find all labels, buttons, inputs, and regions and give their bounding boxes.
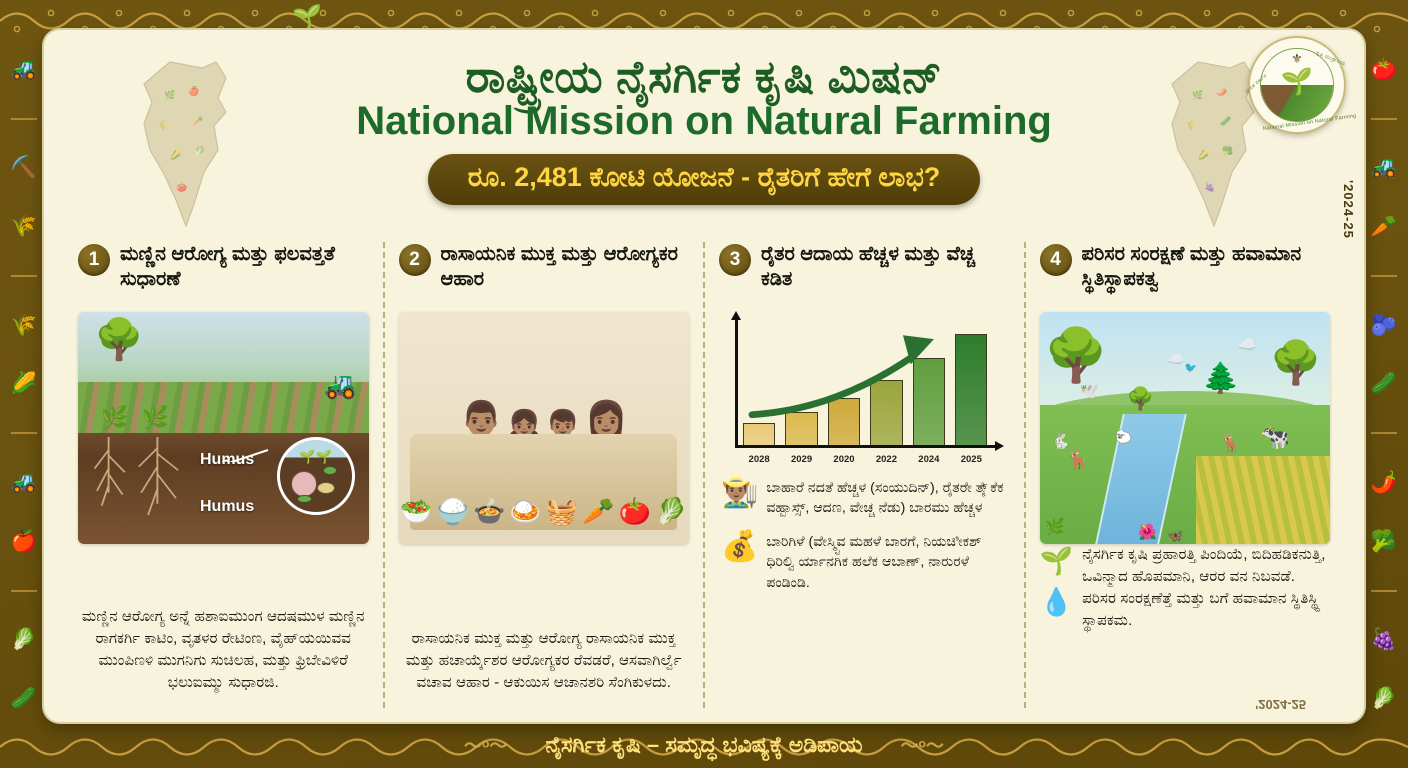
microbe-cell: [297, 495, 312, 503]
cloud-icon: ☁️: [1237, 338, 1257, 354]
column-environment-climate: 4 ಪರಿಸರ ಸಂರಕ್ಷಣೆ ಮತ್ತು ಹವಾಮಾನ ಸ್ಥಿತಿಸ್ಥಾ…: [1024, 242, 1345, 708]
divider: [1371, 118, 1397, 120]
right-border-icon-strip: 🍅 🚜 🥕 🫐 🥒 🌶️ 🥦 🍇 🥬: [1360, 34, 1408, 734]
tree-icon: 🌳: [1127, 388, 1154, 410]
rice-icon: 🌾: [11, 315, 37, 336]
family-meal-illustration: 👨🏽 👧🏽 👦🏽 👩🏽 🥗 🍚 🍲 🍛 🧺 🥕 🍅: [399, 312, 690, 544]
tree-icon: 🌳: [1044, 330, 1109, 382]
year-tab: '2024-25: [1341, 180, 1356, 239]
column-4-body: ನೈಸರ್ಗಿಕ ಕೃಷಿ ಪ್ರಹಾರತ್ತಿ ಪಿಂದಿಯೆ, ಬಿದಿಹಡ…: [1082, 544, 1330, 646]
content-columns: 1 ಮಣ್ಣಿನ ಆರೋಗ್ಯ ಮತ್ತು ಫಲವತ್ತತೆ ಸುಧಾರಣೆ 🌳…: [64, 242, 1344, 708]
money-bags-icon: 💰: [721, 532, 758, 562]
bar-group: 2029: [785, 322, 817, 445]
microbe-cell: [291, 471, 317, 497]
daughter-figure: 👧🏽: [508, 410, 540, 436]
chart-y-axis: [735, 318, 738, 448]
chart-note-1: 👨🏽‍🌾 ಬಾಹಾರೆ ನದತೆ ಹೆಚ್ಚಳ (ಸಂಯುದಿನ್), ರೈತರ…: [719, 478, 1010, 518]
nmnf-seal-logo: ⚜ 🌱 ಭಾರತ ಸರ್ಕಾರ ಕೃಷಿ ಮಂತ್ರಾಲಯ National M…: [1248, 36, 1346, 134]
column-4-heading: ಪರಿಸರ ಸಂರಕ್ಷಣೆ ಮತ್ತು ಹವಾಮಾನ ಸ್ಥಿತಿಸ್ಥಾಪಕ…: [1082, 242, 1331, 292]
divider: [11, 432, 37, 434]
divider: [1371, 432, 1397, 434]
bar-label: 2020: [833, 454, 854, 465]
tree-icon: 🌲: [1202, 364, 1239, 394]
tractor-icon: 🚜: [11, 472, 37, 493]
bird-icon: 🕊️: [1080, 384, 1099, 399]
bar: [955, 334, 987, 445]
divider: [11, 590, 37, 592]
column-1-heading: ಮಣ್ಣಿನ ಆರೋಗ್ಯ ಮತ್ತು ಫಲವತ್ತತೆ ಸುಧಾರಣೆ: [120, 242, 369, 292]
tractor-icon: 🚜: [11, 59, 37, 80]
chart-note-2: 💰 ಬಾರಿಗಿಳೆ (ವೇಸ್ಮ್ಟಿವ ಮಹಳೆ ಬಾರಗೆ, ನಿಯಚಿೀ…: [719, 532, 1010, 592]
corn-icon: 🌽: [11, 373, 37, 394]
divider: [1371, 590, 1397, 592]
decorative-frame: 🌱 🚜 ⛏️ 🌾 🌾 🌽 🚜 🍎 🥬 🥒 🍅 🚜 🥕 🫐 🥒 🌶️ 🥦: [0, 0, 1408, 768]
broccoli-icon: 🥦: [1371, 531, 1397, 552]
microbe-cell: [323, 466, 337, 475]
chili-icon: 🌶️: [1371, 472, 1397, 493]
bar-group: 2020: [828, 322, 860, 445]
leafy-greens-icon: 🥬: [655, 498, 687, 524]
flower-icon: 🌺: [1138, 525, 1157, 540]
rice-bowl-icon: 🍚: [437, 498, 469, 524]
grass-icon: 🌿: [1045, 520, 1065, 536]
paddy-field: [1196, 456, 1330, 544]
divider: [1371, 275, 1397, 277]
bar-label: 2028: [749, 454, 770, 465]
column-soil-health: 1 ಮಣ್ಣಿನ ಆರೋಗ್ಯ ಮತ್ತು ಫಲವತ್ತತೆ ಸುಧಾರಣೆ 🌳…: [64, 242, 383, 708]
year-corner-mark: '2024-25: [1255, 697, 1306, 712]
number-badge-4: 4: [1040, 244, 1072, 276]
column-2-header: 2 ರಾಸಾಯನಿಕ ಮುಕ್ತ ಮತ್ತು ಆರೋಗ್ಯಕರ ಆಹಾರ: [399, 242, 690, 304]
number-badge-1: 1: [78, 244, 110, 276]
mother-figure: 👩🏽: [585, 402, 627, 436]
rabbit-icon: 🐇: [1051, 434, 1070, 449]
grass-icon: 🌱🌱: [280, 449, 352, 465]
column-4-header: 4 ಪರಿಸರ ಸಂರಕ್ಷಣೆ ಮತ್ತು ಹವಾಮಾನ ಸ್ಥಿತಿಸ್ಥಾ…: [1040, 242, 1331, 304]
fruit-basket-icon: 🧺: [546, 498, 578, 524]
infographic-panel: 🌿🍎 🌾🥕 🌽🥬 🍅 🌿🌶️ 🌾🥒 🌽🥦 🍇: [44, 30, 1364, 722]
butterfly-icon: 🦋: [1167, 529, 1183, 542]
deer-icon: 🦌: [1066, 450, 1091, 470]
wheat-icon: 🌾: [11, 216, 37, 237]
left-border-icon-strip: 🚜 ⛏️ 🌾 🌾 🌽 🚜 🍎 🥬 🥒: [0, 34, 48, 734]
bar-group: 2025: [955, 322, 987, 445]
soil-cross-section-illustration: 🌳 🚜 🌿 🌿 Humus Humus: [78, 312, 369, 544]
family-group: 👨🏽 👧🏽 👦🏽 👩🏽: [399, 326, 690, 436]
chart-bars: 202820292020202220242025: [743, 322, 988, 445]
grapes-icon: 🍇: [1371, 629, 1397, 650]
bar: [743, 423, 775, 445]
column-chemical-free-food: 2 ರಾಸಾಯನಿಕ ಮುಕ್ತ ಮತ್ತು ಆರೋಗ್ಯಕರ ಆಹಾರ 👨🏽 …: [383, 242, 704, 708]
nature-landscape-illustration: 🌳 🌳 🌲 🌳 ☁️ ☁️ 🐦 🕊️ 🦌 🐇 🦌 🐄 🐑 🌺 🦋 🌿: [1040, 312, 1331, 544]
bar-group: 2022: [870, 322, 902, 445]
column-2-body: ರಾಸಾಯನಿಕ ಮುಕ್ತ ಮತ್ತು ಆರೋಗ್ಯ ರಾಸಾಯನಿಕ ಮುಕ…: [399, 628, 690, 708]
column-3-heading: ರೈತರ ಆದಾಯ ಹೆಚ್ಚಳ ಮತ್ತು ವೆಚ್ಚ ಕಡಿತ: [761, 242, 1010, 292]
tractor-icon: 🚜: [1371, 157, 1397, 178]
pickaxe-icon: ⛏️: [11, 157, 37, 178]
footer-ornament-left: 〜ᵒ〜: [464, 732, 507, 758]
hand-holding-sapling-icon: 🌱: [292, 6, 322, 30]
microbe-cell: [317, 482, 335, 494]
page-title-kannada: ರಾಷ್ಟ್ರೀಯ ನೈಸರ್ಗಿಕ ಕೃಷಿ ಮಿಷನ್: [44, 52, 1364, 102]
food-dishes: 🥗 🍚 🍲 🍛 🧺 🥕 🍅 🥬: [399, 498, 690, 524]
son-figure: 👦🏽: [547, 410, 579, 436]
cloud-icon: ☁️: [1167, 352, 1184, 366]
bar: [785, 412, 817, 445]
chart-note-1-text: ಬಾಹಾರೆ ನದತೆ ಹೆಚ್ಚಳ (ಸಂಯುದಿನ್), ರೈತರೇ ತೈ್…: [766, 478, 1007, 518]
subtitle-banner: ರೂ. 2,481 ಕೋಟಿ ಯೋಜನೆ - ರೈತರಿಗೆ ಹೇಗೆ ಲಾಭ?: [428, 154, 981, 205]
apple-icon: 🍎: [11, 531, 37, 552]
tree-icon: 🌳: [1270, 342, 1322, 384]
curry-bowl-icon: 🍲: [473, 498, 505, 524]
farmer-with-hat-icon: 👨🏽‍🌾: [721, 478, 758, 508]
cow-icon: 🐄: [1260, 426, 1290, 450]
bar-group: 2028: [743, 322, 775, 445]
column-4-side-icons: 🌱 💧: [1040, 544, 1074, 616]
chart-note-2-text: ಬಾರಿಗಿಳೆ (ವೇಸ್ಮ್ಟಿವ ಮಹಳೆ ಬಾರಗೆ, ನಿಯಚಿೀಕಶ…: [766, 532, 1007, 592]
bar: [828, 398, 860, 445]
chart-x-axis: [735, 445, 996, 448]
bar-label: 2024: [918, 454, 939, 465]
soil-microbe-magnifier: 🌱🌱: [277, 437, 355, 515]
header: ರಾಷ್ಟ್ರೀಯ ನೈಸರ್ಗಿಕ ಕೃಷಿ ಮಿಷನ್ National M…: [44, 30, 1364, 205]
cucumber-icon: 🥒: [1371, 373, 1397, 394]
bar-label: 2029: [791, 454, 812, 465]
beet-icon: 🫐: [1371, 315, 1397, 336]
income-growth-bar-chart: 202820292020202220242025: [719, 314, 1010, 474]
footer-text: ನೈಸರ್ಗಿಕ ಕೃಷಿ – ಸಮೃದ್ಧ ಭವಿಷ್ಯಕ್ಕೆ ಅಡಿಪಾಯ: [545, 732, 862, 758]
column-2-heading: ರಾಸಾಯನಿಕ ಮುಕ್ತ ಮತ್ತು ಆರೋಗ್ಯಕರ ಆಹಾರ: [441, 242, 690, 292]
number-badge-3: 3: [719, 244, 751, 276]
page-title-english: National Mission on Natural Farming: [44, 100, 1364, 142]
column-3-header: 3 ರೈತರ ಆದಾಯ ಹೆಚ್ಚಳ ಮತ್ತು ವೆಚ್ಚ ಕಡಿತ: [719, 242, 1010, 304]
cucumber-icon: 🥒: [11, 688, 37, 709]
water-drop-cycle-icon: 💧: [1040, 589, 1074, 616]
column-farmer-income: 3 ರೈತರ ಆದಾಯ ಹೆಚ್ಚಳ ಮತ್ತು ವೆಚ್ಚ ಕಡಿತ 2028…: [703, 242, 1024, 708]
seal-ring-text: ಭಾರತ ಸರ್ಕಾರ ಕೃಷಿ ಮಂತ್ರಾಲಯ National Missi…: [1250, 38, 1344, 132]
seal-ring-top-left: ಭಾರತ ಸರ್ಕಾರ: [1244, 73, 1269, 96]
column-1-body: ಮಣ್ಣಿನ ಆರೋಗ್ಯ ಅನ್ನೆ ಹಶಾಐಮುಂಗ ಆದಷಮುಳ ಮಣ್ಣ…: [78, 606, 369, 708]
number-badge-2: 2: [399, 244, 431, 276]
column-1-header: 1 ಮಣ್ಣಿನ ಆರೋಗ್ಯ ಮತ್ತು ಫಲವತ್ತತೆ ಸುಧಾರಣೆ: [78, 242, 369, 304]
rice-bowl-icon: 🍛: [509, 498, 541, 524]
footer-ornament-right: 〜ᵒ〜: [901, 732, 944, 758]
bar: [913, 358, 945, 445]
bar-label: 2025: [961, 454, 982, 465]
carrot-icon: 🥕: [1371, 216, 1397, 237]
soil-plant-icon: 🌱: [1040, 548, 1074, 575]
leafy-greens-icon: 🥬: [11, 629, 37, 650]
divider: [11, 118, 37, 120]
tomato-icon: 🍅: [1371, 59, 1397, 80]
humus-label-bottom: Humus: [200, 498, 254, 516]
leafy-greens-icon: 🥬: [1371, 688, 1397, 709]
bird-icon: 🐦: [1185, 364, 1197, 374]
tomato-icon: 🍅: [619, 498, 651, 524]
father-figure: 👨🏽: [460, 402, 502, 436]
bar: [870, 380, 902, 445]
bar-group: 2024: [913, 322, 945, 445]
sheep-icon: 🐑: [1115, 430, 1132, 444]
column-4-content: 🌱 💧 ನೈಸರ್ಗಿಕ ಕೃಷಿ ಪ್ರಹಾರತ್ತಿ ಪಿಂದಿಯೆ, ಬಿ…: [1040, 544, 1331, 646]
vegetable-bowl-icon: 🥗: [400, 498, 432, 524]
bar-label: 2022: [876, 454, 897, 465]
divider: [11, 275, 37, 277]
footer-banner: 〜ᵒ〜 ನೈಸರ್ಗಿಕ ಕೃಷಿ – ಸಮೃದ್ಧ ಭವಿಷ್ಯಕ್ಕೆ ಅಡ…: [0, 722, 1408, 768]
carrot-icon: 🥕: [582, 498, 614, 524]
deer-icon: 🦌: [1220, 434, 1242, 452]
